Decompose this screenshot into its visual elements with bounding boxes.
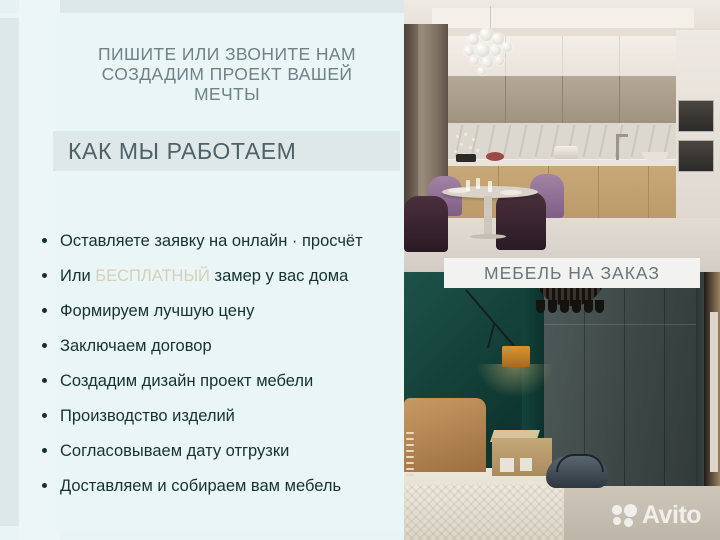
bullet-icon <box>42 308 47 313</box>
list-item-label: Оставляете заявку на онлайн · просчёт <box>60 228 363 254</box>
list-item: Оставляете заявку на онлайн · просчёт <box>42 228 402 263</box>
banner-label: МЕБЕЛЬ НА ЗАКАЗ <box>484 263 660 284</box>
kitchen-pot <box>554 146 578 159</box>
bullet-icon <box>42 273 47 278</box>
list-item-label: Формируем лучшую цену <box>60 298 254 324</box>
kitchen-oven <box>678 100 714 132</box>
kitchen-fruit-bowl <box>486 152 504 161</box>
list-item: Формируем лучшую цену <box>42 298 402 333</box>
avito-wordmark: Avito <box>642 500 701 530</box>
wall-lamp-arm <box>464 288 518 348</box>
dining-chair <box>404 196 448 252</box>
banner-mebel-na-zakaz: МЕБЕЛЬ НА ЗАКАЗ <box>444 258 700 288</box>
section-title-label: КАК МЫ РАБОТАЕМ <box>68 138 296 165</box>
decorative-band-left <box>0 18 19 526</box>
list-item: Заключаем договор <box>42 333 402 368</box>
list-item: Или БЕСПЛАТНЫЙ замер у вас дома <box>42 263 402 298</box>
list-item: Создадим дизайн проект мебели <box>42 368 402 403</box>
wall-lamp-shade <box>502 346 530 367</box>
list-item-label: Заключаем договор <box>60 333 212 359</box>
list-item-label: Производство изделий <box>60 403 235 429</box>
list-item: Доставляем и собираем вам мебель <box>42 473 402 508</box>
kitchen-microwave <box>678 140 714 172</box>
headline: ПИШИТЕ ИЛИ ЗВОНИТЕ НАМ СОЗДАДИМ ПРОЕКТ В… <box>55 44 399 104</box>
bullet-icon <box>42 378 47 383</box>
section-title-bar: КАК МЫ РАБОТАЕМ <box>53 131 400 171</box>
kitchen-faucet <box>616 134 619 160</box>
avito-logo-icon <box>612 504 642 526</box>
steps-list: Оставляете заявку на онлайн · просчёт Ил… <box>42 228 402 508</box>
list-item-label: Доставляем и собираем вам мебель <box>60 473 341 499</box>
list-item-label: Или БЕСПЛАТНЫЙ замер у вас дома <box>60 263 348 289</box>
bullet-icon <box>42 483 47 488</box>
bullet-icon <box>42 238 47 243</box>
kitchen-upper-cabinets-dark <box>448 76 676 123</box>
bullet-icon <box>42 448 47 453</box>
list-item: Согласовываем дату отгрузки <box>42 438 402 473</box>
decorative-band-corner <box>0 0 19 13</box>
advertisement-canvas: ПИШИТЕ ИЛИ ЗВОНИТЕ НАМ СОЗДАДИМ ПРОЕКТ В… <box>0 0 720 540</box>
bullet-icon <box>42 413 47 418</box>
decorative-band-top <box>60 0 404 13</box>
list-item-label: Согласовываем дату отгрузки <box>60 438 289 464</box>
avito-watermark: Avito <box>612 500 712 530</box>
list-item: Производство изделий <box>42 403 402 438</box>
kitchen-chandelier <box>462 26 520 76</box>
dining-chair <box>496 192 546 250</box>
kitchen-photo <box>404 0 720 272</box>
list-item-label: Создадим дизайн проект мебели <box>60 368 313 394</box>
bullet-icon <box>42 343 47 348</box>
